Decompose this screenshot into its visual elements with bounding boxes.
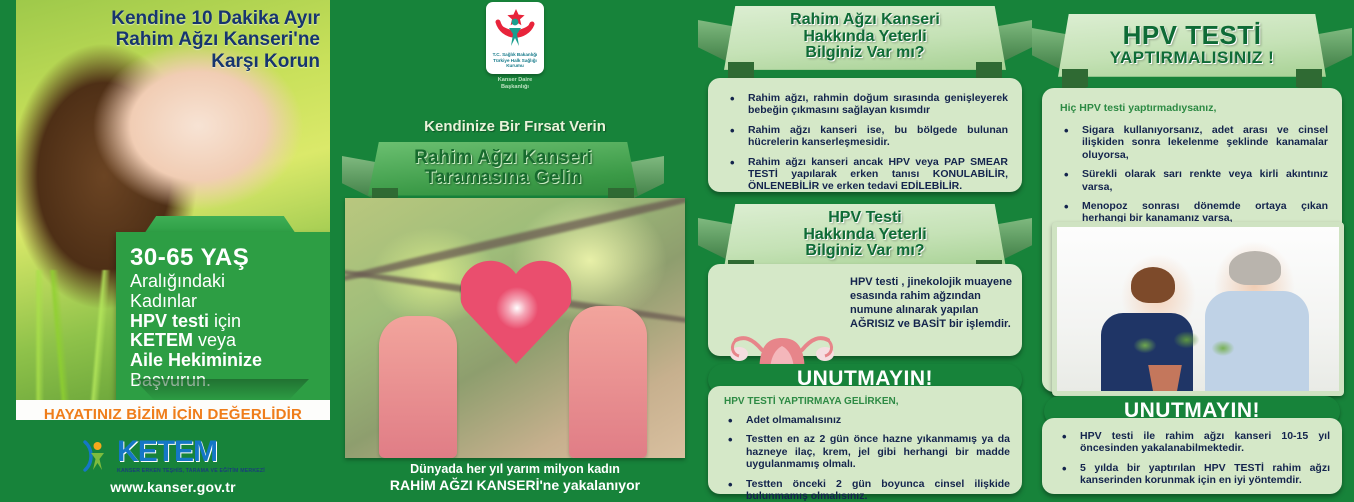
panel-call-to-action: HPV TESTİ YAPTIRMALISINIZ ! Hiç HPV test… — [1030, 0, 1354, 502]
ketem-wordmark: KETEM — [117, 437, 265, 467]
panel1-headline-line-2: Rahim Ağzı Kanseri'ne — [60, 29, 320, 50]
panel4-ribbon-line-1: HPV TESTİ — [1072, 22, 1312, 49]
ketem-website-url[interactable]: www.kanser.gov.tr — [110, 479, 236, 495]
ketem-subtitle: KANSER ERKEN TEŞHİS, TARAMA VE EĞİTİM ME… — [117, 468, 265, 474]
panel4-ribbon: HPV TESTİ YAPTIRMALISINIZ ! — [1058, 14, 1326, 77]
panel1-headline-line-1: Kendine 10 Dakika Ayır — [60, 8, 320, 29]
list-item: Rahim ağzı kanseri ancak HPV veya PAP SM… — [722, 156, 1008, 193]
callout-hpv-rest: için — [209, 311, 241, 331]
list-item: Sigara kullanıyorsanız, adet arası ve ci… — [1056, 124, 1328, 161]
callout-line-3: Kadınlar — [130, 292, 330, 312]
panel3-unutmayin-card: HPV TESTİ YAPTIRMAYA GELİRKEN, Adet olma… — [708, 386, 1022, 494]
callout-hpv-bold: HPV testi — [130, 311, 209, 331]
callout-line-4: HPV testi için — [130, 312, 330, 332]
woman-hair — [1131, 267, 1175, 303]
panel3-ribbon-2: HPV Testi Hakkında Yeterli Bilginiz Var … — [724, 204, 1006, 268]
ministry-crescent-star-icon — [486, 2, 544, 54]
list-item: Menopoz sonrası dönemde ortaya çıkan her… — [1056, 200, 1328, 225]
right-hand — [569, 306, 647, 458]
ribbon-face: Rahim Ağzı Kanseri Taramasına Gelin — [368, 142, 638, 196]
panel3-info-card-1: Rahim ağzı, rahmin doğum sırasında geniş… — [708, 78, 1022, 192]
panel3-s1-ribbon-line-1: Rahim Ağzı Kanseri — [738, 12, 992, 29]
callout-age-range: 30-65 YAŞ — [130, 244, 330, 272]
panel3-s2-ribbon-line-1: HPV Testi — [738, 210, 992, 227]
callout-line-6: Aile Hekiminize — [130, 351, 330, 371]
panel3-hpv-description: HPV testi , jinekolojik muayene esasında… — [850, 276, 1012, 332]
panel3-unutmayin-lead: HPV TESTİ YAPTIRMAYA GELİRKEN, — [724, 396, 1010, 407]
ribbon-face: HPV TESTİ YAPTIRMALISINIZ ! — [1058, 14, 1326, 77]
callout-ketem-rest: veya — [193, 330, 236, 350]
panel-information: Rahim Ağzı Kanseri Hakkında Yeterli Bilg… — [700, 0, 1030, 502]
panel3-s1-ribbon-line-3: Bilginiz Var mı? — [738, 45, 992, 62]
list-item: Testten önceki 2 gün boyunca cinsel iliş… — [720, 478, 1010, 502]
panel3-s2-ribbon-line-2: Hakkında Yeterli — [738, 227, 992, 244]
ministry-department-line-2: Başkanlığı — [486, 84, 544, 91]
brochure-canvas: Kendine 10 Dakika Ayır Rahim Ağzı Kanser… — [0, 0, 1354, 502]
ministry-logo-block: T.C. Sağlık Bakanlığı Türkiye Halk Sağlı… — [486, 2, 544, 90]
age-range-callout: 30-65 YAŞ Aralığındaki Kadınlar HPV test… — [116, 232, 330, 403]
panel3-info-card-2: HPV testi , jinekolojik muayene esasında… — [708, 264, 1022, 356]
ministry-logo-card: T.C. Sağlık Bakanlığı Türkiye Halk Sağlı… — [486, 2, 544, 74]
panel1-headline: Kendine 10 Dakika Ayır Rahim Ağzı Kanser… — [60, 8, 320, 72]
heart-sparkle — [495, 286, 539, 330]
ketem-wordmark-group: KETEM KANSER ERKEN TEŞHİS, TARAMA VE EĞİ… — [117, 437, 265, 474]
list-item: 5 yılda bir yaptırılan HPV TESTİ rahim a… — [1054, 462, 1330, 487]
panel1-headline-line-3: Karşı Korun — [60, 51, 320, 72]
panel-invitation: T.C. Sağlık Bakanlığı Türkiye Halk Sağlı… — [340, 0, 690, 502]
list-item: Adet olmamalısınız — [720, 414, 1010, 426]
panel3-s2-ribbon-line-3: Bilginiz Var mı? — [738, 243, 992, 260]
ribbon-face: HPV Testi Hakkında Yeterli Bilginiz Var … — [724, 204, 1006, 268]
ketem-logo-row: KETEM KANSER ERKEN TEŞHİS, TARAMA VE EĞİ… — [81, 437, 265, 474]
panel3-s1-ribbon-line-2: Hakkında Yeterli — [738, 29, 992, 46]
hands-holding-heart-photo — [345, 198, 685, 458]
callout-line-2: Aralığındaki — [130, 272, 330, 292]
callout-ketem-bold: KETEM — [130, 330, 193, 350]
panel2-footer-line-1: Dünyada her yıl yarım milyon kadın — [340, 462, 690, 476]
ketem-logo-block: KETEM KANSER ERKEN TEŞHİS, TARAMA VE EĞİ… — [16, 430, 330, 502]
callout-line-5: KETEM veya — [130, 331, 330, 351]
panel4-unutmayin-card: HPV testi ile rahim ağzı kanseri 10-15 y… — [1042, 418, 1342, 494]
list-item: Rahim ağzı, rahmin doğum sırasında geniş… — [722, 92, 1008, 117]
photo-content — [1057, 227, 1339, 391]
panel2-ribbon-line-1: Rahim Ağzı Kanseri — [382, 148, 624, 168]
panel3-bullet-list-3: Adet olmamalısınız Testten en az 2 gün ö… — [720, 414, 1010, 502]
ministry-line-1: T.C. Sağlık Bakanlığı — [486, 52, 544, 58]
panel2-footer: Dünyada her yıl yarım milyon kadın RAHİM… — [340, 462, 690, 493]
list-item: Testten en az 2 gün önce hazne yıkanmamı… — [720, 433, 1010, 470]
ministry-department: Kanser Daire Başkanlığı — [486, 77, 544, 90]
list-item: Sürekli olarak sarı renkte veya kirli ak… — [1056, 168, 1328, 193]
panel3-ribbon-1: Rahim Ağzı Kanseri Hakkında Yeterli Bilg… — [724, 6, 1006, 70]
left-hand — [379, 316, 457, 458]
panel2-ribbon-line-2: Taramasına Gelin — [382, 168, 624, 188]
panel3-bullet-list-1: Rahim ağzı, rahmin doğum sırasında geniş… — [722, 92, 1008, 193]
potted-violets — [1119, 323, 1249, 379]
ketem-figure-icon — [81, 439, 111, 473]
man-hair — [1229, 251, 1281, 285]
panel4-unutmayin-list: HPV testi ile rahim ağzı kanseri 10-15 y… — [1054, 430, 1330, 487]
panel2-ribbon-banner: Rahim Ağzı Kanseri Taramasına Gelin — [368, 142, 638, 196]
panel-awareness-poster: Kendine 10 Dakika Ayır Rahim Ağzı Kanser… — [16, 0, 330, 420]
list-item: HPV testi ile rahim ağzı kanseri 10-15 y… — [1054, 430, 1330, 455]
panel4-ribbon-line-2: YAPTIRMALISINIZ ! — [1072, 49, 1312, 67]
ministry-logo-text: T.C. Sağlık Bakanlığı Türkiye Halk Sağlı… — [486, 52, 544, 69]
list-item: Rahim ağzı kanseri ise, bu bölgede bulun… — [722, 124, 1008, 149]
ministry-department-line-1: Kanser Daire — [486, 77, 544, 84]
ministry-line-3: Kurumu — [486, 63, 544, 69]
ribbon-face: Rahim Ağzı Kanseri Hakkında Yeterli Bilg… — [724, 6, 1006, 70]
panel2-footer-line-2: RAHİM AĞZI KANSERİ'ne yakalanıyor — [340, 477, 690, 493]
value-of-life-text: HAYATINIZ BİZİM İÇİN DEĞERLİDİR — [44, 406, 302, 421]
panel4-lead: Hiç HPV testi yaptırmadıysanız, — [1060, 102, 1328, 114]
value-of-life-strip: HAYATINIZ BİZİM İÇİN DEĞERLİDİR — [16, 400, 330, 420]
panel2-subhead: Kendinize Bir Fırsat Verin — [340, 118, 690, 135]
elderly-couple-with-flowers-photo — [1052, 222, 1344, 396]
callout-bottom-fold — [134, 379, 309, 401]
